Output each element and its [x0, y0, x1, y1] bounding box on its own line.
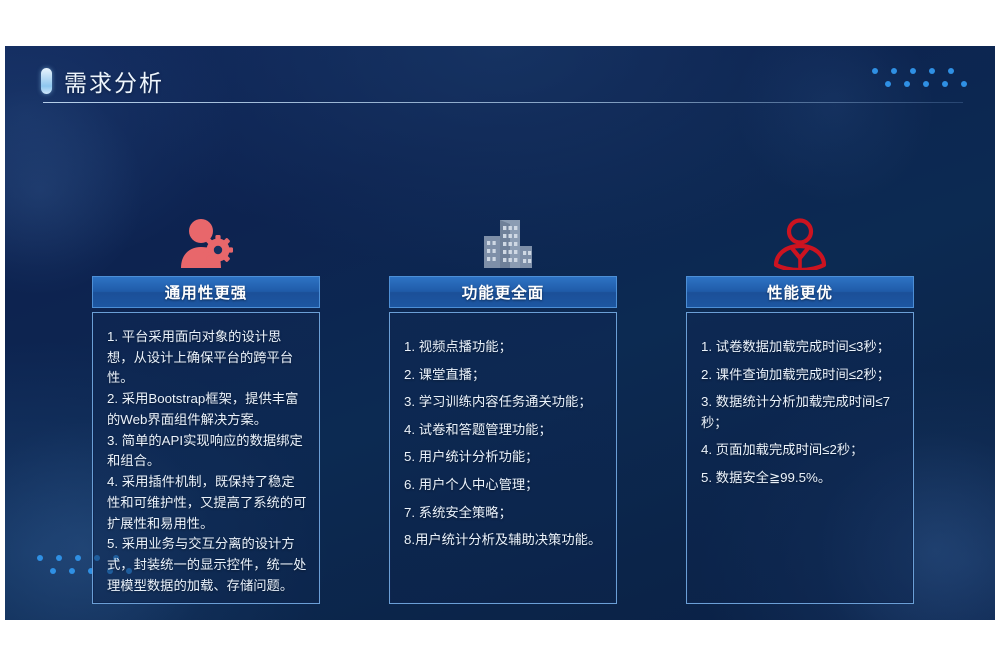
card-line: 2. 课件查询加载完成时间≤2秒； [701, 365, 901, 386]
card-line: 4. 采用插件机制，既保持了稳定性和可维护性，又提高了系统的可扩展性和易用性。 [107, 472, 307, 534]
dot [69, 568, 75, 574]
card-line: 2. 课堂直播； [404, 365, 604, 386]
slide-canvas: 需求分析 [5, 46, 995, 620]
card-line: 6. 用户个人中心管理； [404, 475, 604, 496]
title-bullet-pill-icon [41, 68, 52, 94]
card-body-performance: 1. 试卷数据加载完成时间≤3秒； 2. 课件查询加载完成时间≤2秒； 3. 数… [686, 312, 914, 604]
dot [961, 81, 967, 87]
card-header-performance: 性能更优 [686, 276, 914, 308]
card-line: 5. 采用业务与交互分离的设计方式，封装统一的显示控件，统一处理模型数据的加载、… [107, 534, 307, 596]
dot [942, 81, 948, 87]
card-icon-slot [389, 214, 617, 270]
dot [948, 68, 954, 74]
card-line: 7. 系统安全策略； [404, 503, 604, 524]
card-line: 1. 视频点播功能； [404, 337, 604, 358]
dot [50, 568, 56, 574]
dot [56, 555, 62, 561]
card-line: 5. 数据安全≧99.5%。 [701, 468, 901, 489]
card-heading: 功能更全面 [462, 281, 545, 303]
card-line: 8.用户统计分析及辅助决策功能。 [404, 530, 604, 551]
user-gear-icon [177, 218, 235, 270]
card-line: 4. 试卷和答题管理功能； [404, 420, 604, 441]
card-header-generality: 通用性更强 [92, 276, 320, 308]
card-icon-slot [92, 214, 320, 270]
card-heading: 通用性更强 [165, 281, 248, 303]
dot [929, 68, 935, 74]
dot [904, 81, 910, 87]
dot [872, 68, 878, 74]
dot [923, 81, 929, 87]
feature-card-performance: 性能更优 1. 试卷数据加载完成时间≤3秒； 2. 课件查询加载完成时间≤2秒；… [686, 214, 914, 604]
card-line: 1. 试卷数据加载完成时间≤3秒； [701, 337, 901, 358]
slide-header: 需求分析 [5, 46, 995, 106]
feature-card-functionality: 功能更全面 1. 视频点播功能； 2. 课堂直播； 3. 学习训练内容任务通关功… [389, 214, 617, 604]
dot [910, 68, 916, 74]
card-line: 1. 平台采用面向对象的设计思想，从设计上确保平台的跨平台性。 [107, 327, 307, 389]
card-line: 5. 用户统计分析功能； [404, 447, 604, 468]
card-line: 4. 页面加载完成时间≤2秒； [701, 440, 901, 461]
dot [37, 555, 43, 561]
dot-row [885, 81, 967, 87]
dot-row [872, 68, 967, 74]
card-heading: 性能更优 [767, 281, 833, 303]
card-line: 3. 数据统计分析加载完成时间≤7秒； [701, 392, 901, 433]
card-line: 3. 简单的API实现响应的数据绑定和组合。 [107, 431, 307, 472]
card-line: 2. 采用Bootstrap框架，提供丰富的Web界面组件解决方案。 [107, 389, 307, 430]
buildings-icon [472, 218, 534, 270]
title-row: 需求分析 [41, 64, 164, 98]
card-body-generality: 1. 平台采用面向对象的设计思想，从设计上确保平台的跨平台性。 2. 采用Boo… [92, 312, 320, 604]
dot-grid-top-right [872, 68, 967, 87]
card-icon-slot [686, 214, 914, 270]
dot [75, 555, 81, 561]
page-title: 需求分析 [64, 64, 164, 98]
title-divider [43, 102, 963, 103]
feature-card-generality: 通用性更强 1. 平台采用面向对象的设计思想，从设计上确保平台的跨平台性。 2.… [92, 214, 320, 604]
card-body-functionality: 1. 视频点播功能； 2. 课堂直播； 3. 学习训练内容任务通关功能； 4. … [389, 312, 617, 604]
dot [891, 68, 897, 74]
businessperson-outline-icon [771, 218, 829, 270]
card-header-functionality: 功能更全面 [389, 276, 617, 308]
card-line: 3. 学习训练内容任务通关功能； [404, 392, 604, 413]
dot [885, 81, 891, 87]
